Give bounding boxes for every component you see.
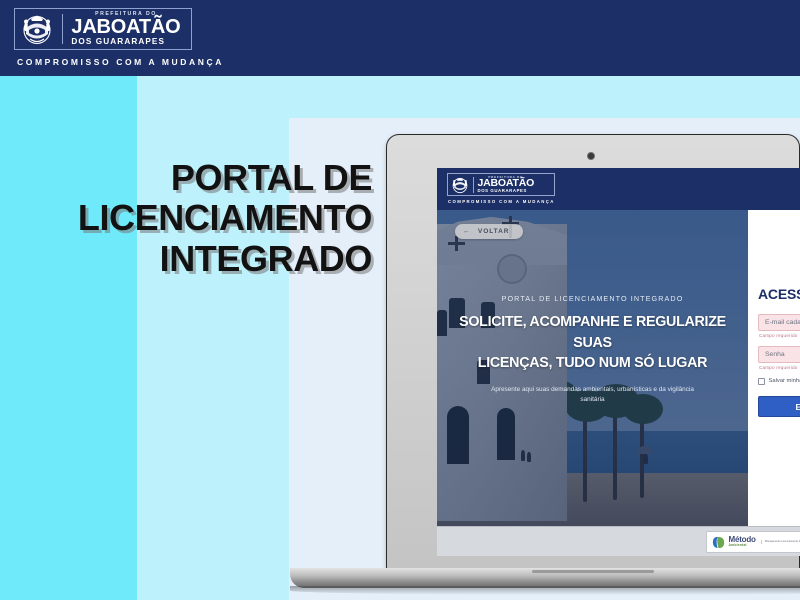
password-input-placeholder: Senha <box>765 351 785 358</box>
site-brand-divider <box>473 177 474 193</box>
remember-password-label: Salvar minha senha <box>769 378 800 384</box>
site-brand-lockup: PREFEITURA DO JABOATÃO DOS GUARARAPES CO… <box>447 173 555 204</box>
metodo-logo-words: Método Ambiental <box>729 536 756 547</box>
site-city-subtitle: DOS GUARARAPES <box>478 189 535 193</box>
login-section-title: ACESSO <box>758 286 800 302</box>
hero-title-line-1: SOLICITE, ACOMPANHE E REGULARIZE SUAS <box>453 312 732 353</box>
site-footer: Método Ambiental Planejamento Licenciame… <box>437 526 800 556</box>
back-button-label: VOLTAR <box>478 228 510 235</box>
webcam-icon <box>587 152 595 160</box>
remember-password-row[interactable]: Salvar minha senha <box>758 378 800 385</box>
background-band-bright <box>0 76 137 600</box>
metodo-ambiental-logo: Método Ambiental Planejamento Licenciame… <box>706 531 800 553</box>
brand-divider <box>62 14 63 44</box>
email-error-message: Campo requerido <box>759 333 798 338</box>
site-brand-box: PREFEITURA DO JABOATÃO DOS GUARARAPES <box>447 173 555 196</box>
laptop-screen: PREFEITURA DO JABOATÃO DOS GUARARAPES CO… <box>437 168 800 556</box>
site-header: PREFEITURA DO JABOATÃO DOS GUARARAPES CO… <box>437 168 800 210</box>
metodo-logo-tagline: Planejamento Licenciamento Projetos e Fe… <box>761 540 800 544</box>
hero-kicker: PORTAL DE LICENCIAMENTO INTEGRADO <box>453 294 732 303</box>
email-input-placeholder: E-mail cadastrado <box>765 319 800 326</box>
laptop-lid: PREFEITURA DO JABOATÃO DOS GUARARAPES CO… <box>386 134 800 570</box>
laptop-base <box>290 568 800 588</box>
hero-banner: PORTAL DE LICENCIAMENTO INTEGRADO SOLICI… <box>437 210 748 556</box>
city-name: JABOATÃO <box>71 18 180 37</box>
page-title-line-1: PORTAL DE <box>0 158 372 198</box>
remember-password-checkbox[interactable] <box>758 378 765 385</box>
brand-words: PREFEITURA DO JABOATÃO DOS GUARARAPES <box>71 12 180 46</box>
site-brand-tagline: COMPROMISSO COM A MUDANÇA <box>448 199 555 204</box>
page-title-line-2: LICENCIAMENTO <box>0 198 372 238</box>
submit-button-label: ENTRAR <box>796 402 800 412</box>
city-subtitle: DOS GUARARAPES <box>71 38 180 46</box>
arrow-left-icon: ← <box>463 228 471 235</box>
hero-title-line-2: LICENÇAS, TUDO NUM SÓ LUGAR <box>453 353 732 374</box>
website-viewport: PREFEITURA DO JABOATÃO DOS GUARARAPES CO… <box>437 168 800 556</box>
email-input[interactable]: E-mail cadastrado <box>758 314 800 331</box>
brand-box: PREFEITURA DO JABOATÃO DOS GUARARAPES <box>14 8 192 50</box>
password-input[interactable]: Senha <box>758 346 800 363</box>
hero-description: Apresente aqui suas demandas ambientais,… <box>453 385 732 406</box>
back-button[interactable]: ← VOLTAR <box>455 224 523 239</box>
submit-button[interactable]: ENTRAR <box>758 396 800 417</box>
page-title-line-3: INTEGRADO <box>0 239 372 279</box>
coat-of-arms-icon <box>20 12 54 46</box>
site-coat-of-arms-icon <box>451 176 469 194</box>
page-title: PORTAL DE LICENCIAMENTO INTEGRADO <box>0 158 380 279</box>
brand-lockup: PREFEITURA DO JABOATÃO DOS GUARARAPES CO… <box>14 8 224 67</box>
metodo-logo-subtitle: Ambiental <box>729 544 756 547</box>
page-header: PREFEITURA DO JABOATÃO DOS GUARARAPES CO… <box>0 0 800 76</box>
hero-text-block: PORTAL DE LICENCIAMENTO INTEGRADO SOLICI… <box>437 294 748 406</box>
login-panel: Novo usuário ACESSO E-mail cadastrado Ca… <box>748 210 800 556</box>
leaf-icon <box>711 535 726 550</box>
brand-tagline: COMPROMISSO COM A MUDANÇA <box>17 57 224 67</box>
site-brand-words: PREFEITURA DO JABOATÃO DOS GUARARAPES <box>478 176 535 193</box>
password-error-message: Campo requerido <box>759 365 798 370</box>
